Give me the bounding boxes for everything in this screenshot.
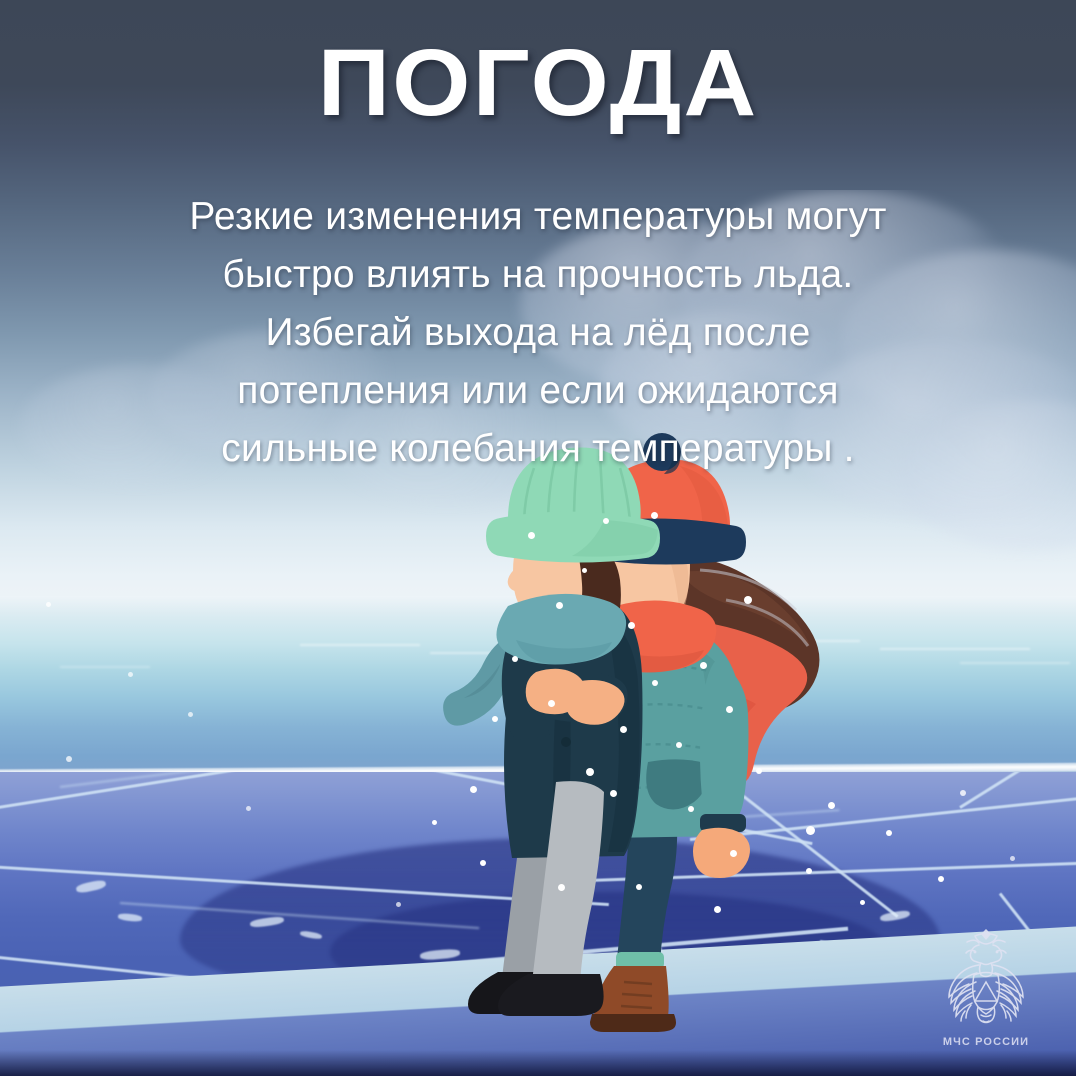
advice-line-3: Избегай выхода на лёд после <box>0 304 1076 362</box>
advice-text: Резкие изменения температуры могут быстр… <box>0 188 1076 478</box>
right-hand <box>693 828 750 878</box>
weather-safety-poster: ПОГОДА Резкие изменения температуры могу… <box>0 0 1076 1076</box>
logo-caption: МЧС РОССИИ <box>925 1036 1047 1048</box>
mchs-russia-emblem-icon <box>931 925 1041 1029</box>
mchs-logo: МЧС РОССИИ <box>925 925 1047 1050</box>
advice-line-5: сильные колебания температуры . <box>0 420 1076 478</box>
coat-button <box>561 737 571 747</box>
advice-line-2: быстро влиять на прочность льда. <box>0 246 1076 304</box>
boot-back-sole <box>590 1014 676 1032</box>
advice-line-1: Резкие изменения температуры могут <box>0 188 1076 246</box>
page-title: ПОГОДА <box>0 36 1076 131</box>
advice-line-4: потепления или если ожидаются <box>0 362 1076 420</box>
illustration-two-walkers <box>0 0 1076 1076</box>
